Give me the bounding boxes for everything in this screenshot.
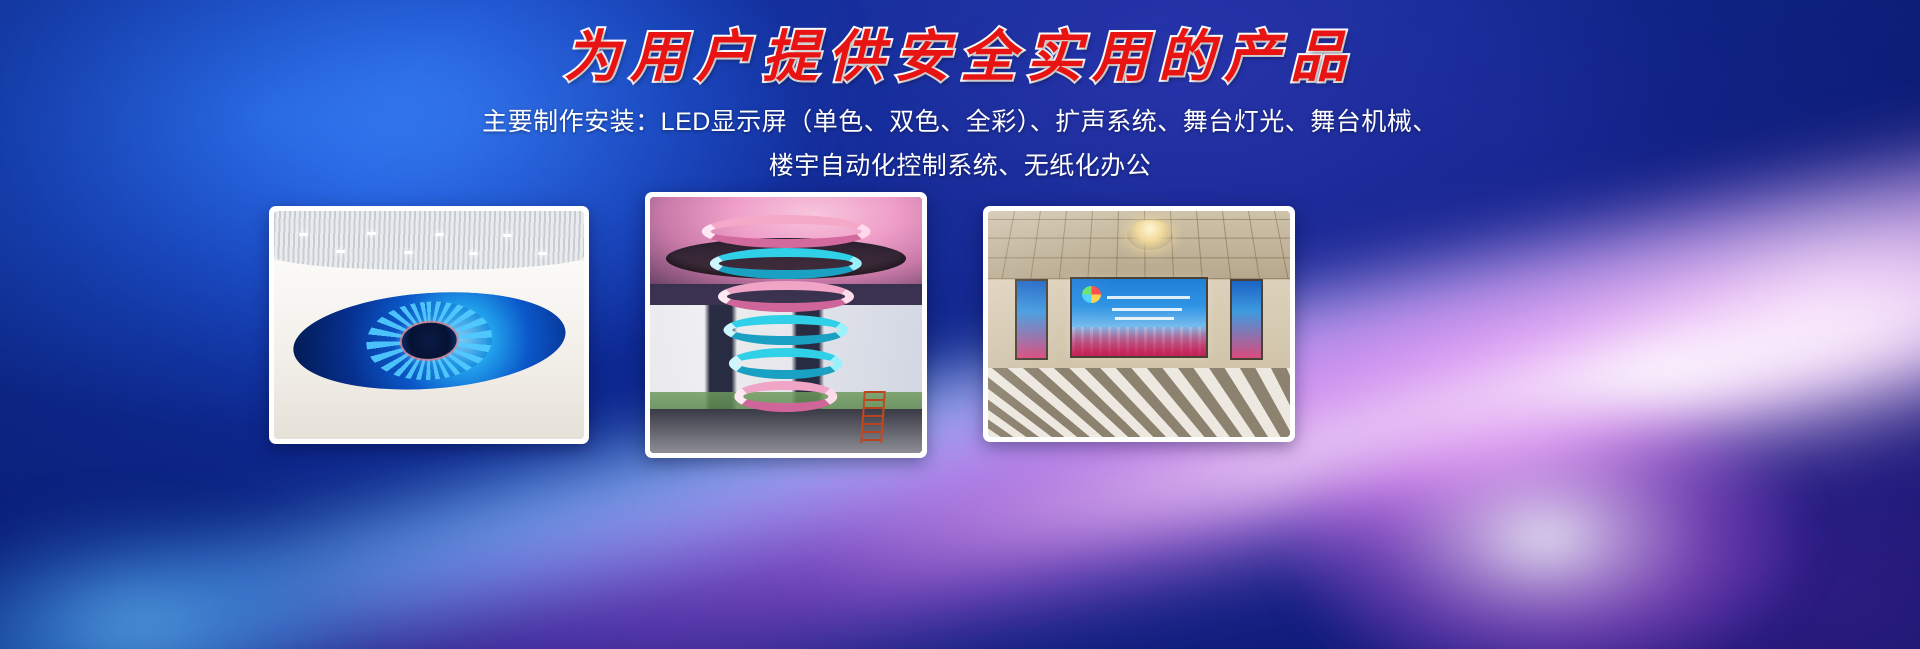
promo-banner: 为用户提供安全实用的产品 主要制作安装：LED显示屏（单色、双色、全彩）、扩声系… (0, 0, 1920, 649)
spiral-ribbon-led-screen-image (650, 197, 922, 453)
photo-card-conference-hall-led[interactable] (983, 206, 1295, 442)
spiral-segment (710, 248, 862, 279)
banner-content: 为用户提供安全实用的产品 主要制作安装：LED显示屏（单色、双色、全彩）、扩声系… (0, 0, 1920, 649)
spiral-segment (718, 281, 854, 312)
conference-hall-led-screen-image (988, 211, 1290, 437)
spiral-segment (702, 215, 871, 248)
photo-card-gallery (0, 0, 1920, 649)
photo-card-eye-shaped-led[interactable] (269, 206, 589, 444)
photo-sheen (988, 211, 1290, 437)
photo-card-spiral-led[interactable] (645, 192, 927, 458)
spiral-segment (723, 315, 848, 346)
ceiling-spotlights (274, 225, 584, 266)
spiral-segment (734, 381, 837, 412)
eye-shaped-led-screen-image (274, 211, 584, 439)
spiral-segment (729, 348, 843, 379)
step-ladder (860, 391, 886, 443)
